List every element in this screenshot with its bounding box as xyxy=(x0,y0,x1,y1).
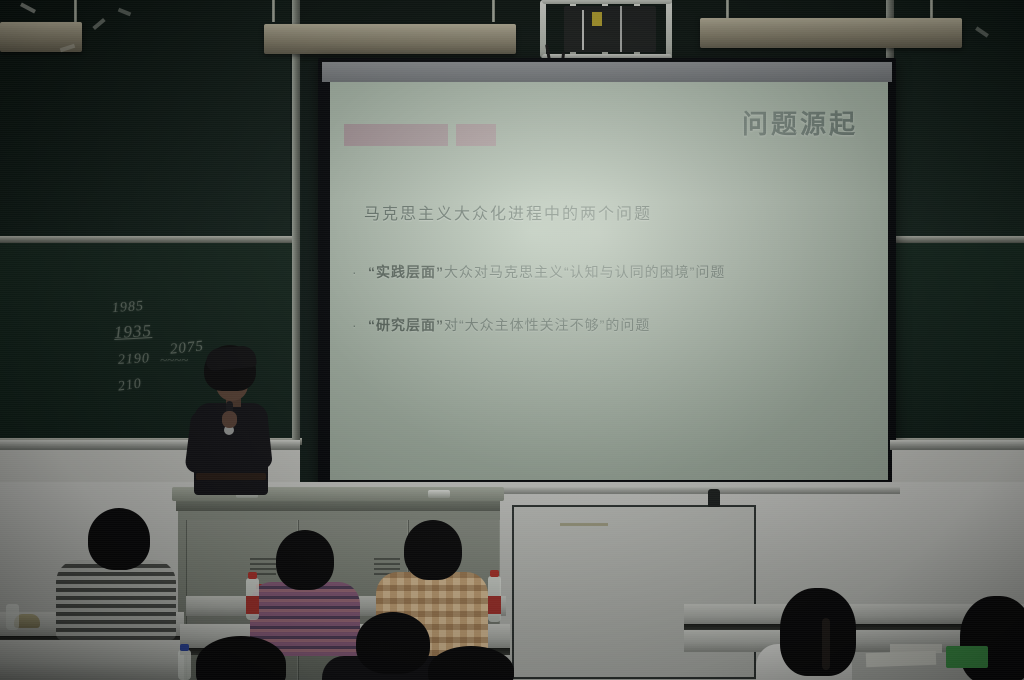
bullet-text: “实践层面”大众对马克思主义“认知与认同的困境”问题 xyxy=(368,262,725,283)
audience-head xyxy=(404,520,462,580)
slide-bullet-item: · “研究层面”对“大众主体性关注不够”的问题 xyxy=(352,315,866,336)
audience-head xyxy=(196,636,286,680)
projector-indicator xyxy=(592,12,602,26)
audience-head xyxy=(88,508,150,570)
slide-heading: 马克思主义大众化进程中的两个问题 xyxy=(364,200,652,224)
bottle-label xyxy=(488,596,501,614)
audience-head xyxy=(428,646,514,680)
water-bottle[interactable] xyxy=(6,604,19,630)
chalk-note-3: 2190 xyxy=(118,351,151,369)
presenter xyxy=(182,345,274,495)
whiteboard-panel xyxy=(512,505,756,679)
audience-hair-strand xyxy=(822,618,830,670)
bullet-emphasis: “研究层面” xyxy=(368,317,444,333)
desk-papers[interactable] xyxy=(866,651,936,667)
rail-rod-e xyxy=(930,0,933,18)
blackboard-panel-lower-right xyxy=(894,242,1024,442)
audience-member xyxy=(760,588,868,680)
rail-rod-b xyxy=(272,0,275,22)
presenter-fringe xyxy=(205,345,257,371)
projector-body xyxy=(564,6,656,52)
bullet-marker: · xyxy=(352,262,368,283)
board-frame-mid-right xyxy=(888,236,1024,243)
bottle-label xyxy=(246,596,259,614)
board-ledge-right xyxy=(890,440,1024,450)
bottle-cap xyxy=(180,644,189,651)
chalk-note-1: 1935 xyxy=(114,321,153,343)
chalk-rail-center xyxy=(264,24,516,54)
audience-head xyxy=(356,612,430,674)
bottle-cap xyxy=(248,572,257,579)
chalk-note-4: 210 xyxy=(117,376,143,395)
presentation-slide: 问题源起 马克思主义大众化进程中的两个问题 · “实践层面”大众对马克思主义“认… xyxy=(330,82,888,480)
board-frame-vert-left xyxy=(292,0,300,444)
lectern-latch-right[interactable] xyxy=(428,490,450,498)
audience-head xyxy=(276,530,334,590)
audience-member xyxy=(196,636,286,680)
chalk-note-0: 1985 xyxy=(111,299,144,317)
desk-papers[interactable] xyxy=(890,644,942,653)
rail-rod-c xyxy=(492,0,495,22)
whiteboard-marker-smudge xyxy=(560,523,608,526)
lectern-lip xyxy=(176,501,500,511)
slide-section-title: 问题源起 xyxy=(742,104,858,141)
slide-bullet-list: · “实践层面”大众对马克思主义“认知与认同的困境”问题 · “研究层面”对“大… xyxy=(352,262,866,368)
board-frame-mid-left xyxy=(0,236,300,243)
desk-panel-left-front xyxy=(0,640,184,680)
bullet-emphasis: “实践层面” xyxy=(368,264,444,280)
bullet-body: 对“大众主体性关注不够”的问题 xyxy=(444,317,650,333)
rail-rod-d xyxy=(726,0,729,18)
audience-member xyxy=(428,646,514,680)
slide-bullet-item: · “实践层面”大众对马克思主义“认知与认同的困境”问题 xyxy=(352,262,866,283)
chalk-rail-right xyxy=(700,18,962,48)
audience-head xyxy=(780,588,856,676)
whiteboard-clip xyxy=(708,489,720,507)
audience-member xyxy=(56,508,176,638)
water-bottle[interactable] xyxy=(178,650,191,680)
bullet-text: “研究层面”对“大众主体性关注不够”的问题 xyxy=(368,315,650,336)
projection-screen-header-strip xyxy=(322,62,892,82)
bullet-body: 大众对马克思主义“认知与认同的困境”问题 xyxy=(444,264,725,280)
audience-torso xyxy=(56,560,176,640)
bullet-marker: · xyxy=(352,315,368,336)
presenter-belt xyxy=(196,473,266,480)
slide-accent-bar-right xyxy=(456,124,496,146)
slide-accent-bar-left xyxy=(344,124,448,146)
lecture-hall-scene: 1985 1935 2075 2190 210 ~~~~ xyxy=(0,0,1024,680)
desk-green-folder[interactable] xyxy=(946,646,988,668)
presenter-hand xyxy=(222,411,237,428)
bottle-cap xyxy=(490,570,499,577)
